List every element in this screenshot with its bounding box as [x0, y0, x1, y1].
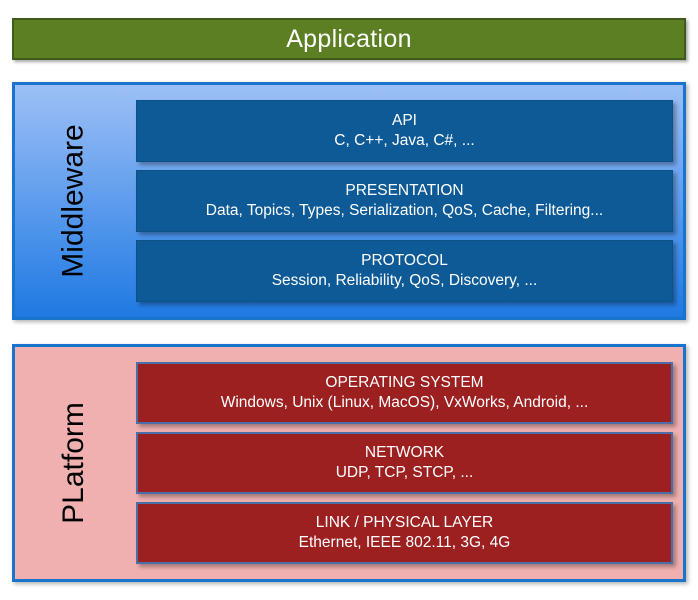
platform-layer-network-subtitle: UDP, TCP, STCP, ...	[336, 463, 474, 483]
middleware-layer-presentation: PRESENTATION Data, Topics, Types, Serial…	[136, 170, 673, 232]
platform-panel-label: PLatform	[15, 347, 133, 579]
platform-layer-stack: OPERATING SYSTEM Windows, Unix (Linux, M…	[136, 347, 683, 579]
middleware-panel-label: Middleware	[15, 85, 133, 317]
platform-layer-link-physical: LINK / PHYSICAL LAYER Ethernet, IEEE 802…	[136, 502, 673, 564]
middleware-layer-api-title: API	[392, 111, 417, 130]
middleware-layer-protocol-title: PROTOCOL	[361, 251, 448, 270]
middleware-layer-protocol-subtitle: Session, Reliability, QoS, Discovery, ..…	[272, 271, 538, 291]
platform-panel: PLatform OPERATING SYSTEM Windows, Unix …	[12, 344, 686, 582]
middleware-panel: Middleware API C, C++, Java, C#, ... PRE…	[12, 82, 686, 320]
middleware-layer-stack: API C, C++, Java, C#, ... PRESENTATION D…	[136, 85, 683, 317]
platform-layer-network-title: NETWORK	[365, 443, 444, 462]
application-layer-bar: Application	[12, 18, 686, 60]
application-layer-label: Application	[286, 27, 412, 52]
platform-panel-label-text: PLatform	[59, 402, 89, 524]
middleware-panel-label-text: Middleware	[59, 124, 89, 277]
platform-layer-operating-system-subtitle: Windows, Unix (Linux, MacOS), VxWorks, A…	[221, 393, 589, 413]
middleware-layer-api: API C, C++, Java, C#, ...	[136, 100, 673, 162]
middleware-layer-protocol: PROTOCOL Session, Reliability, QoS, Disc…	[136, 240, 673, 302]
middleware-layer-presentation-title: PRESENTATION	[345, 181, 463, 200]
platform-layer-link-physical-subtitle: Ethernet, IEEE 802.11, 3G, 4G	[299, 533, 511, 553]
platform-layer-link-physical-title: LINK / PHYSICAL LAYER	[316, 513, 493, 532]
architecture-diagram: Application Middleware API C, C++, Java,…	[0, 0, 698, 600]
middleware-layer-presentation-subtitle: Data, Topics, Types, Serialization, QoS,…	[206, 201, 603, 221]
middleware-layer-api-subtitle: C, C++, Java, C#, ...	[334, 131, 474, 151]
platform-layer-network: NETWORK UDP, TCP, STCP, ...	[136, 432, 673, 494]
platform-layer-operating-system: OPERATING SYSTEM Windows, Unix (Linux, M…	[136, 362, 673, 424]
platform-layer-operating-system-title: OPERATING SYSTEM	[325, 373, 483, 392]
